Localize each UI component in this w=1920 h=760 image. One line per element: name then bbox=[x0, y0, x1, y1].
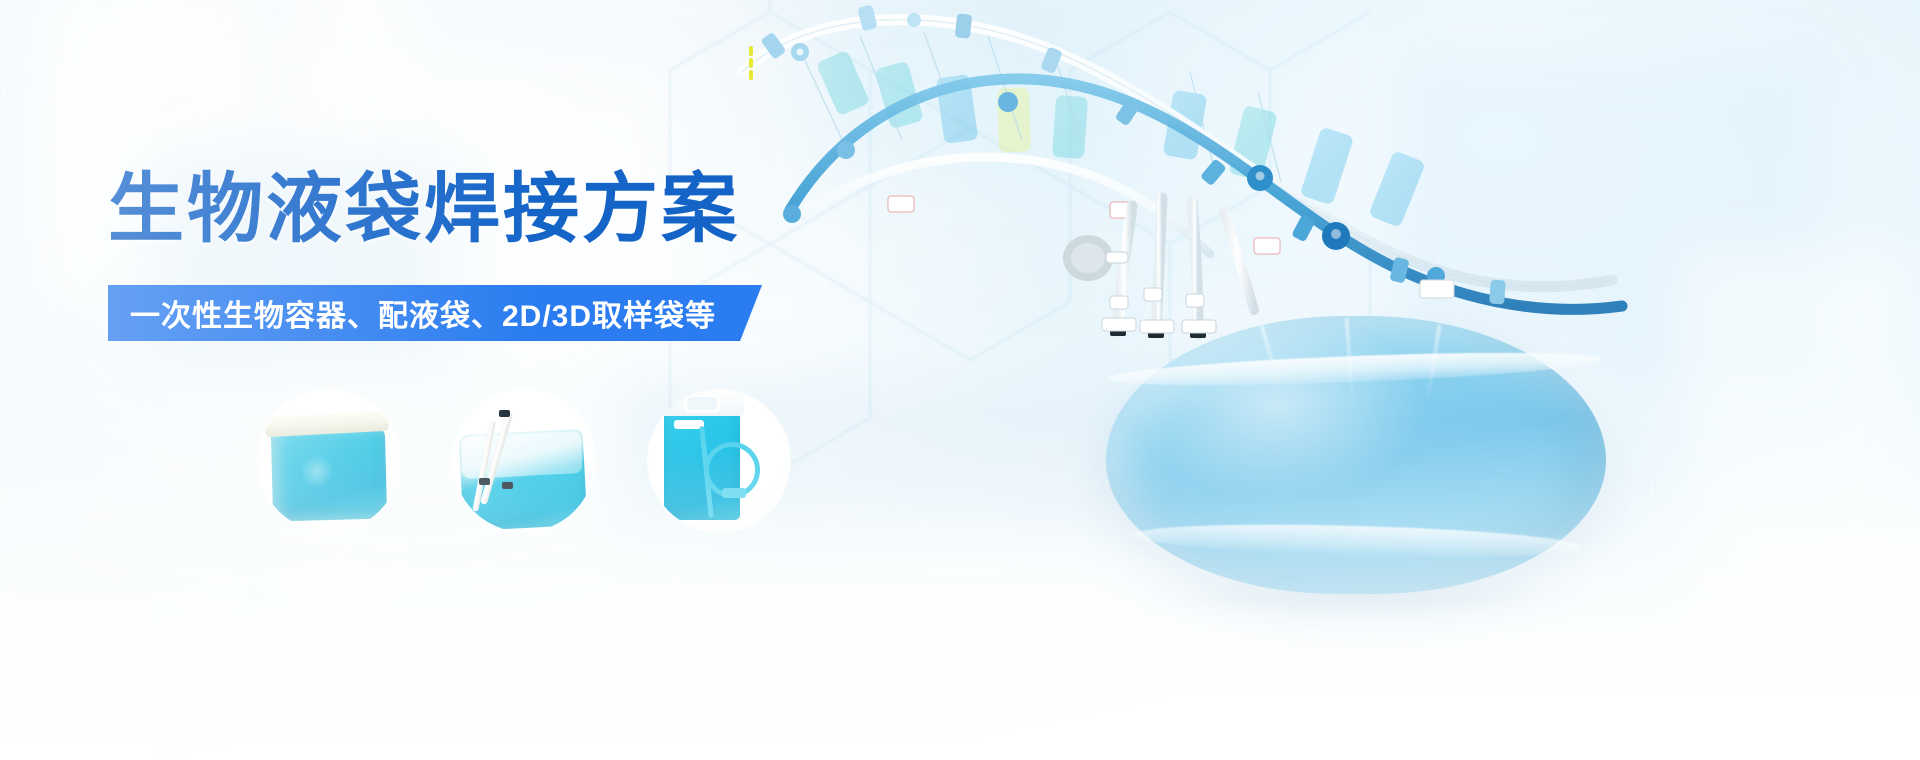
thumbnail-pillow-bag[interactable] bbox=[258, 390, 400, 532]
thumbnail-sampling-bag[interactable] bbox=[648, 390, 790, 532]
tube-connector-icon bbox=[722, 488, 746, 498]
subtitle-banner: 一次性生物容器、配液袋、2D/3D取样袋等 bbox=[108, 285, 762, 341]
tube-clip-icon bbox=[479, 478, 490, 485]
pillow-bag-icon bbox=[271, 427, 387, 522]
thumbnail-2d-bag[interactable] bbox=[453, 390, 595, 532]
tube-clip-icon bbox=[499, 410, 510, 417]
bag-handle-icon bbox=[684, 394, 720, 413]
headline-block: 生物液袋焊接方案 bbox=[108, 172, 888, 248]
promo-banner: 生物液袋焊接方案 一次性生物容器、配液袋、2D/3D取样袋等 bbox=[0, 0, 1920, 760]
tube-clip-icon bbox=[502, 482, 513, 489]
page-title: 生物液袋焊接方案 bbox=[108, 172, 888, 248]
large-bioprocess-bag bbox=[1080, 290, 1640, 620]
subtitle-text: 一次性生物容器、配液袋、2D/3D取样袋等 bbox=[130, 291, 716, 335]
